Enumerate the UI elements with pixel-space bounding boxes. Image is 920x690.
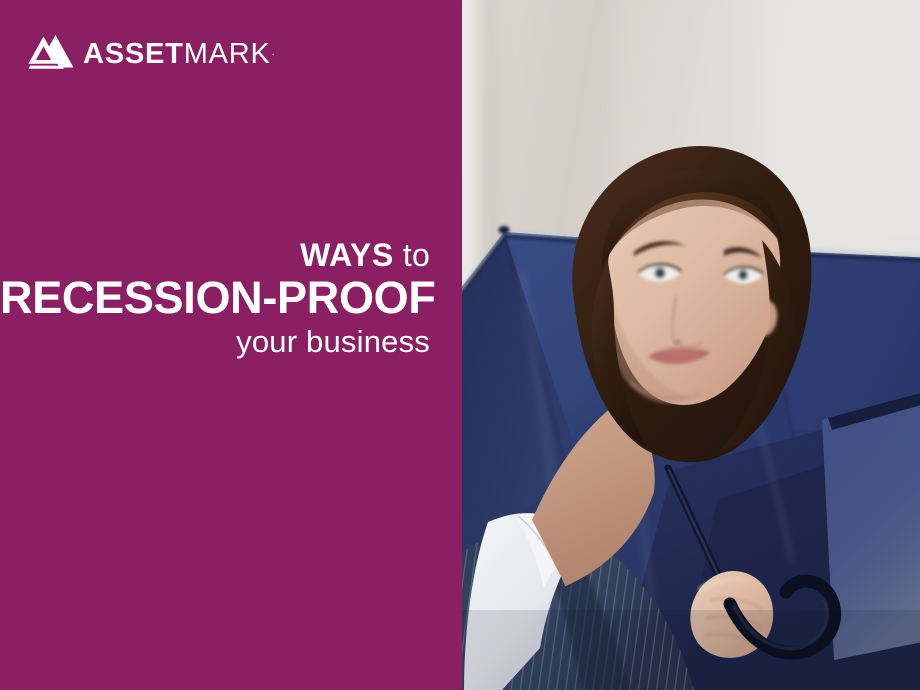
trademark-symbol: . (272, 47, 275, 58)
businesswoman-under-umbrella-photo (462, 0, 920, 690)
headline-line-recession-proof: RECESSION-PROOF (0, 274, 430, 322)
left-brand-panel: ASSETMARK. WAYS to RECESSION-PROOF your … (0, 0, 462, 690)
headline-line-your-business: your business (0, 322, 430, 362)
headline-word-to: to (394, 237, 430, 273)
logo-word-mark: MARK (184, 38, 271, 70)
assetmark-wordmark: ASSETMARK. (83, 40, 274, 69)
headline-line-ways-to: WAYS to (0, 236, 430, 274)
presentation-slide: ASSETMARK. WAYS to RECESSION-PROOF your … (0, 0, 920, 690)
headline-word-ways: WAYS (300, 237, 394, 273)
assetmark-mountain-logo-icon (28, 33, 74, 73)
headline-block: WAYS to RECESSION-PROOF your business (0, 236, 430, 362)
logo-word-asset: ASSET (83, 38, 184, 70)
assetmark-logo: ASSETMARK. (28, 31, 274, 75)
